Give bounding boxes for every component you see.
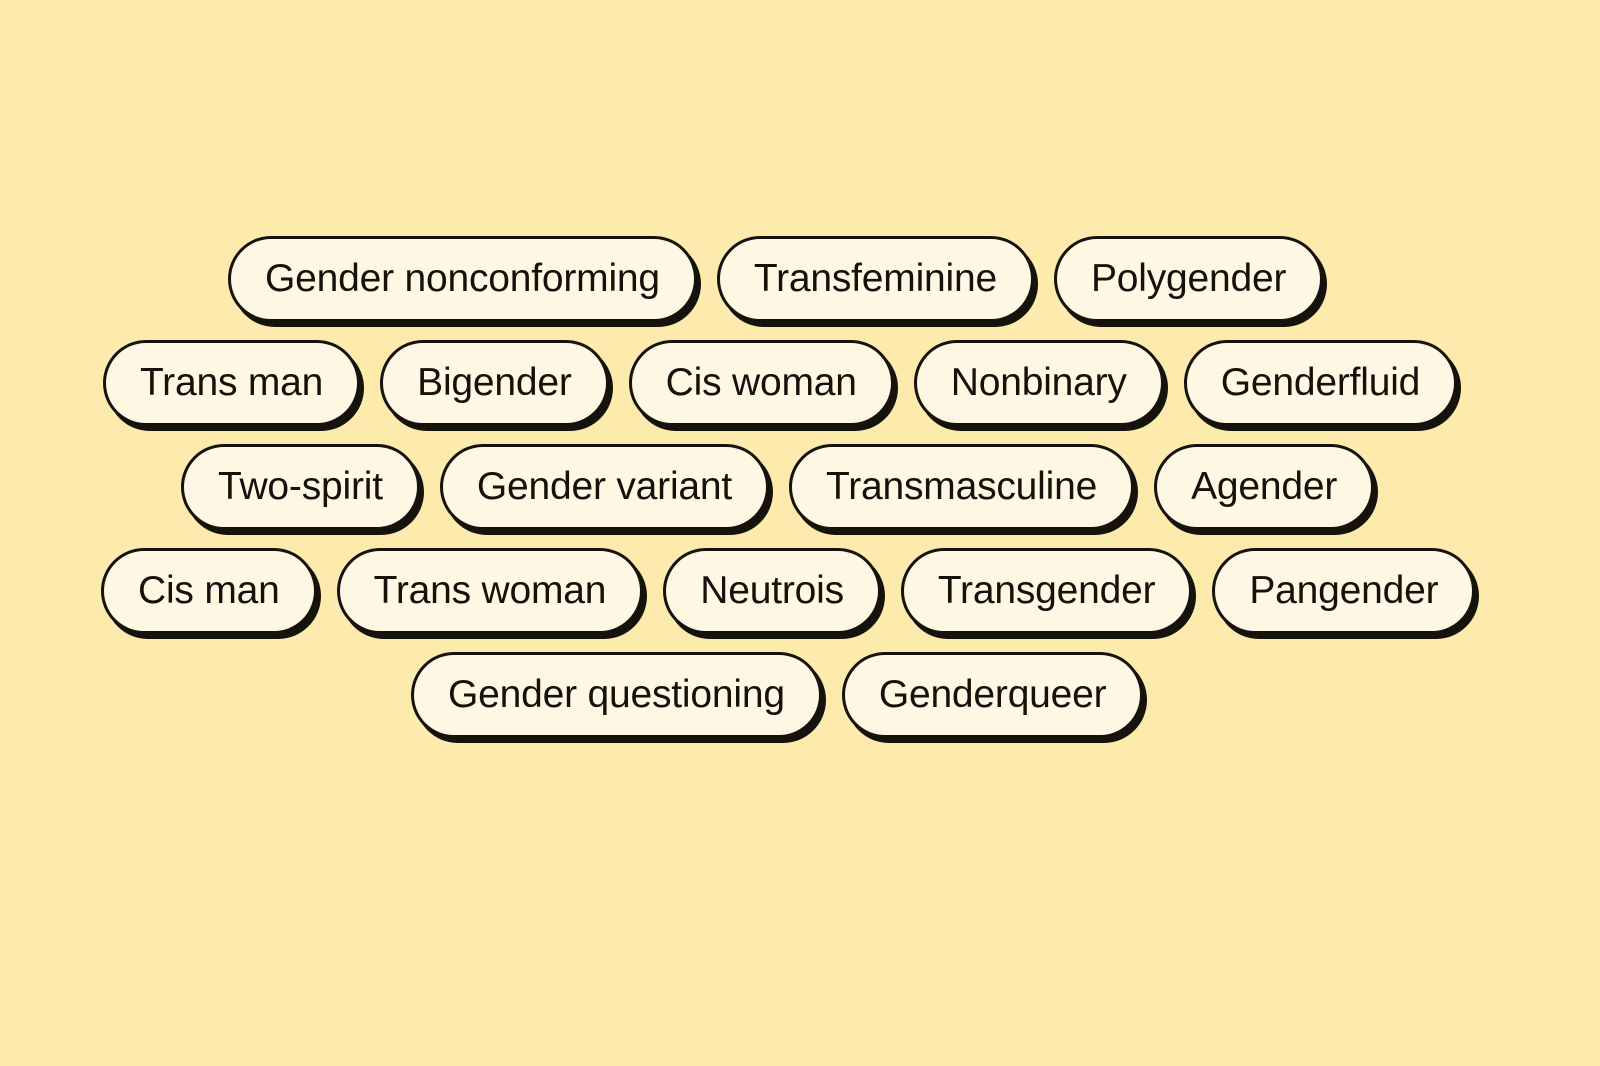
tag-pill-label: Gender nonconforming — [265, 259, 660, 298]
tag-pill-label: Genderqueer — [879, 675, 1107, 714]
tag-pill-genderfluid[interactable]: Genderfluid — [1184, 340, 1457, 426]
tag-pill-trans-man[interactable]: Trans man — [103, 340, 360, 426]
tag-row: Two-spirit Gender variant Transmasculine… — [0, 444, 1600, 530]
tag-pill-label: Cis woman — [666, 363, 857, 402]
tag-pill-label: Transmasculine — [826, 467, 1097, 506]
tag-pill-pangender[interactable]: Pangender — [1212, 548, 1475, 634]
tag-pill-label: Genderfluid — [1221, 363, 1420, 402]
tag-pill-two-spirit[interactable]: Two-spirit — [181, 444, 420, 530]
tag-pill-label: Trans man — [140, 363, 323, 402]
tag-row: Gender nonconforming Transfeminine Polyg… — [0, 236, 1600, 322]
tag-pill-label: Nonbinary — [951, 363, 1127, 402]
tag-pill-label: Pangender — [1249, 571, 1438, 610]
tag-pill-label: Transfeminine — [754, 259, 997, 298]
tag-pill-label: Cis man — [138, 571, 280, 610]
tag-pill-label: Bigender — [417, 363, 572, 402]
tag-pill-bigender[interactable]: Bigender — [380, 340, 609, 426]
tag-pill-label: Trans woman — [374, 571, 607, 610]
tag-pill-transfeminine[interactable]: Transfeminine — [717, 236, 1034, 322]
tag-pill-label: Gender questioning — [448, 675, 785, 714]
tag-cloud: Gender nonconforming Transfeminine Polyg… — [0, 236, 1600, 756]
tag-pill-cis-man[interactable]: Cis man — [101, 548, 317, 634]
tag-pill-trans-woman[interactable]: Trans woman — [337, 548, 644, 634]
tag-pill-label: Polygender — [1091, 259, 1286, 298]
tag-row: Gender questioning Genderqueer — [0, 652, 1600, 738]
tag-pill-label: Two-spirit — [218, 467, 383, 506]
tag-pill-gender-variant[interactable]: Gender variant — [440, 444, 769, 530]
tag-pill-neutrois[interactable]: Neutrois — [663, 548, 881, 634]
tag-row: Cis man Trans woman Neutrois Transgender… — [0, 548, 1600, 634]
tag-pill-transgender[interactable]: Transgender — [901, 548, 1192, 634]
tag-pill-gender-nonconforming[interactable]: Gender nonconforming — [228, 236, 697, 322]
tag-pill-nonbinary[interactable]: Nonbinary — [914, 340, 1164, 426]
tag-pill-label: Transgender — [938, 571, 1155, 610]
tag-pill-polygender[interactable]: Polygender — [1054, 236, 1323, 322]
tag-pill-genderqueer[interactable]: Genderqueer — [842, 652, 1144, 738]
tag-pill-gender-questioning[interactable]: Gender questioning — [411, 652, 822, 738]
tag-pill-cis-woman[interactable]: Cis woman — [629, 340, 894, 426]
tag-pill-label: Neutrois — [700, 571, 844, 610]
tag-pill-label: Gender variant — [477, 467, 732, 506]
tag-row: Trans man Bigender Cis woman Nonbinary G… — [0, 340, 1600, 426]
tag-pill-label: Agender — [1191, 467, 1337, 506]
tag-pill-agender[interactable]: Agender — [1154, 444, 1374, 530]
page-canvas: Gender nonconforming Transfeminine Polyg… — [0, 0, 1600, 1066]
tag-pill-transmasculine[interactable]: Transmasculine — [789, 444, 1134, 530]
